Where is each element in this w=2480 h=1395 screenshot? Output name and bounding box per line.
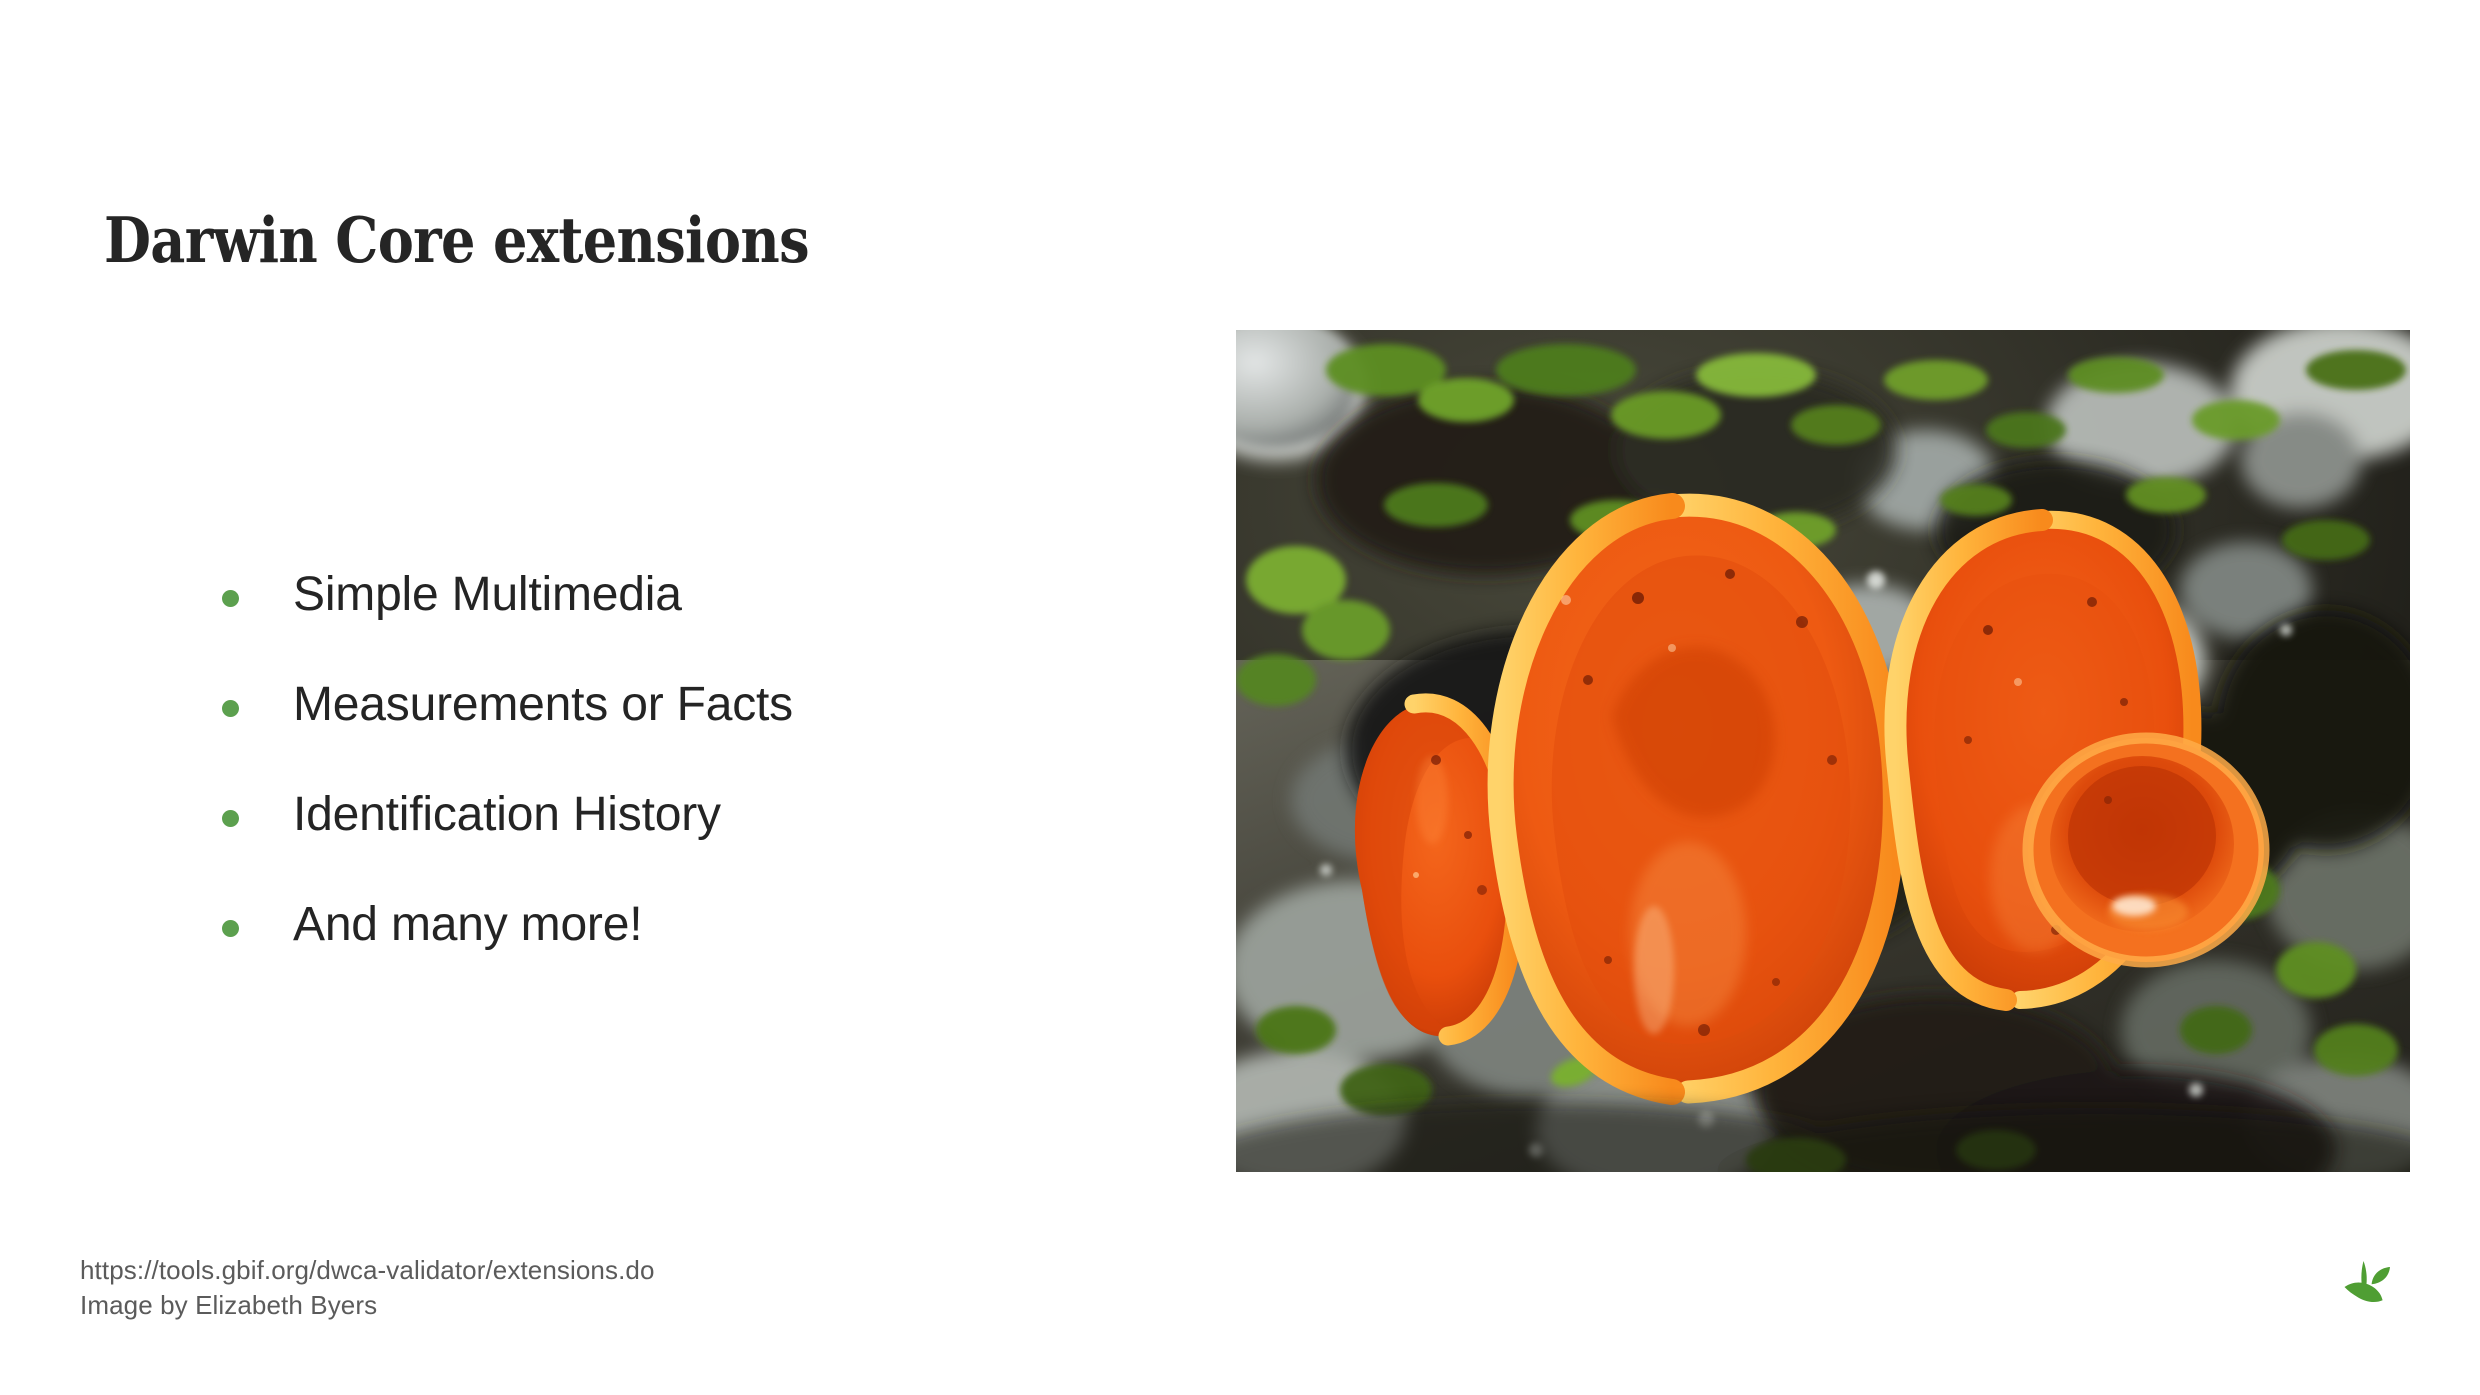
bullet-dot-icon [222, 700, 239, 717]
image-credit: Image by Elizabeth Byers [80, 1288, 655, 1323]
list-item: Identification History [212, 780, 1112, 890]
bullet-dot-icon [222, 590, 239, 607]
photo-artwork [1236, 330, 2410, 1172]
bullet-dot-icon [222, 810, 239, 827]
sprout-logo-icon [2337, 1253, 2401, 1317]
list-item-label: And many more! [293, 896, 642, 954]
source-url[interactable]: https://tools.gbif.org/dwca-validator/ex… [80, 1253, 655, 1288]
slide: Darwin Core extensions Simple Multimedia… [0, 0, 2480, 1395]
list-item-label: Identification History [293, 786, 721, 844]
page-title: Darwin Core extensions [104, 205, 809, 276]
bullet-dot-icon [222, 920, 239, 937]
list-item: Simple Multimedia [212, 560, 1112, 670]
footer-credits: https://tools.gbif.org/dwca-validator/ex… [80, 1253, 655, 1322]
bullet-list: Simple Multimedia Measurements or Facts … [212, 560, 1112, 1000]
list-item-label: Simple Multimedia [293, 566, 682, 624]
list-item: And many more! [212, 890, 1112, 1000]
slide-photo [1236, 330, 2410, 1172]
list-item-label: Measurements or Facts [293, 676, 793, 734]
list-item: Measurements or Facts [212, 670, 1112, 780]
sprout-logo-artwork [2337, 1253, 2401, 1317]
